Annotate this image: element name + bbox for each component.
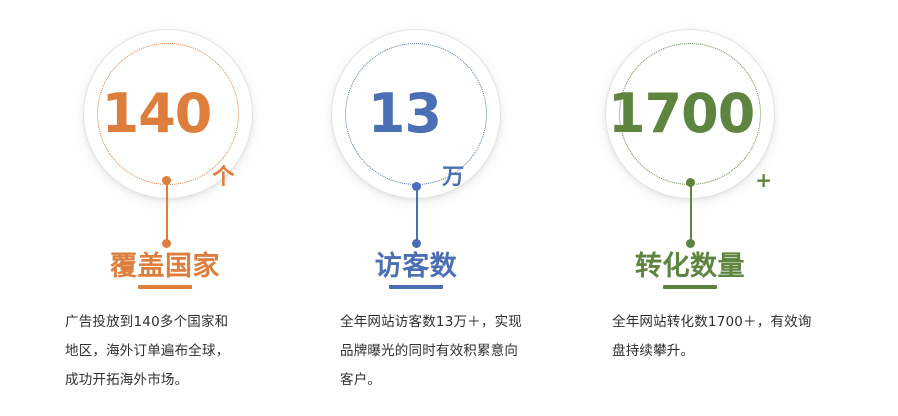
stat-description-countries-covered: 广告投放到140多个国家和地区，海外订单遍布全球，成功开拓海外市场。 — [65, 308, 237, 395]
stat-card-visitors: 13万 访客数 全年网站访客数13万＋，实现品牌曝光的同时有效积累意向客户。 — [296, 0, 586, 416]
stat-value-visitors: 13万 — [332, 30, 500, 198]
stat-unit: 个 — [212, 167, 234, 189]
connector-dot-bottom — [162, 239, 171, 248]
heading-underline — [138, 285, 192, 289]
connector-dot-bottom — [686, 239, 695, 248]
stat-heading-block-countries-covered: 覆盖国家 — [65, 252, 265, 289]
connector-line — [416, 186, 418, 244]
stats-infographic: 140个 覆盖国家 广告投放到140多个国家和地区，海外订单遍布全球，成功开拓海… — [0, 0, 898, 416]
stat-number: 140 — [102, 87, 212, 141]
stat-value-conversions: 1700+ — [606, 30, 774, 198]
stat-number: 13 — [368, 87, 441, 141]
stat-unit: 万 — [442, 167, 464, 189]
stat-circle-visitors: 13万 — [332, 30, 500, 198]
stat-unit: + — [755, 170, 772, 190]
stat-heading-conversions: 转化数量 — [590, 252, 790, 281]
connector-line — [690, 182, 692, 244]
stat-description-conversions: 全年网站转化数1700＋，有效询盘持续攀升。 — [612, 308, 812, 366]
connector-conversions — [686, 178, 695, 248]
stat-number: 1700 — [608, 87, 754, 141]
connector-visitors — [412, 182, 421, 248]
stat-circle-conversions: 1700+ — [606, 30, 774, 198]
heading-underline — [663, 285, 717, 289]
stat-heading-visitors: 访客数 — [316, 252, 516, 281]
stat-value-countries-covered: 140个 — [84, 30, 252, 198]
stat-circle-countries-covered: 140个 — [84, 30, 252, 198]
stat-description-visitors: 全年网站访客数13万＋，实现品牌曝光的同时有效积累意向客户。 — [340, 308, 528, 395]
connector-dot-bottom — [412, 239, 421, 248]
stat-heading-block-visitors: 访客数 — [316, 252, 516, 289]
stat-card-conversions: 1700+ 转化数量 全年网站转化数1700＋，有效询盘持续攀升。 — [568, 0, 858, 416]
connector-countries-covered — [162, 176, 171, 248]
stat-heading-block-conversions: 转化数量 — [590, 252, 790, 289]
stat-heading-countries-covered: 覆盖国家 — [65, 252, 265, 281]
connector-line — [166, 180, 168, 244]
stat-card-countries-covered: 140个 覆盖国家 广告投放到140多个国家和地区，海外订单遍布全球，成功开拓海… — [22, 0, 312, 416]
heading-underline — [389, 285, 443, 289]
